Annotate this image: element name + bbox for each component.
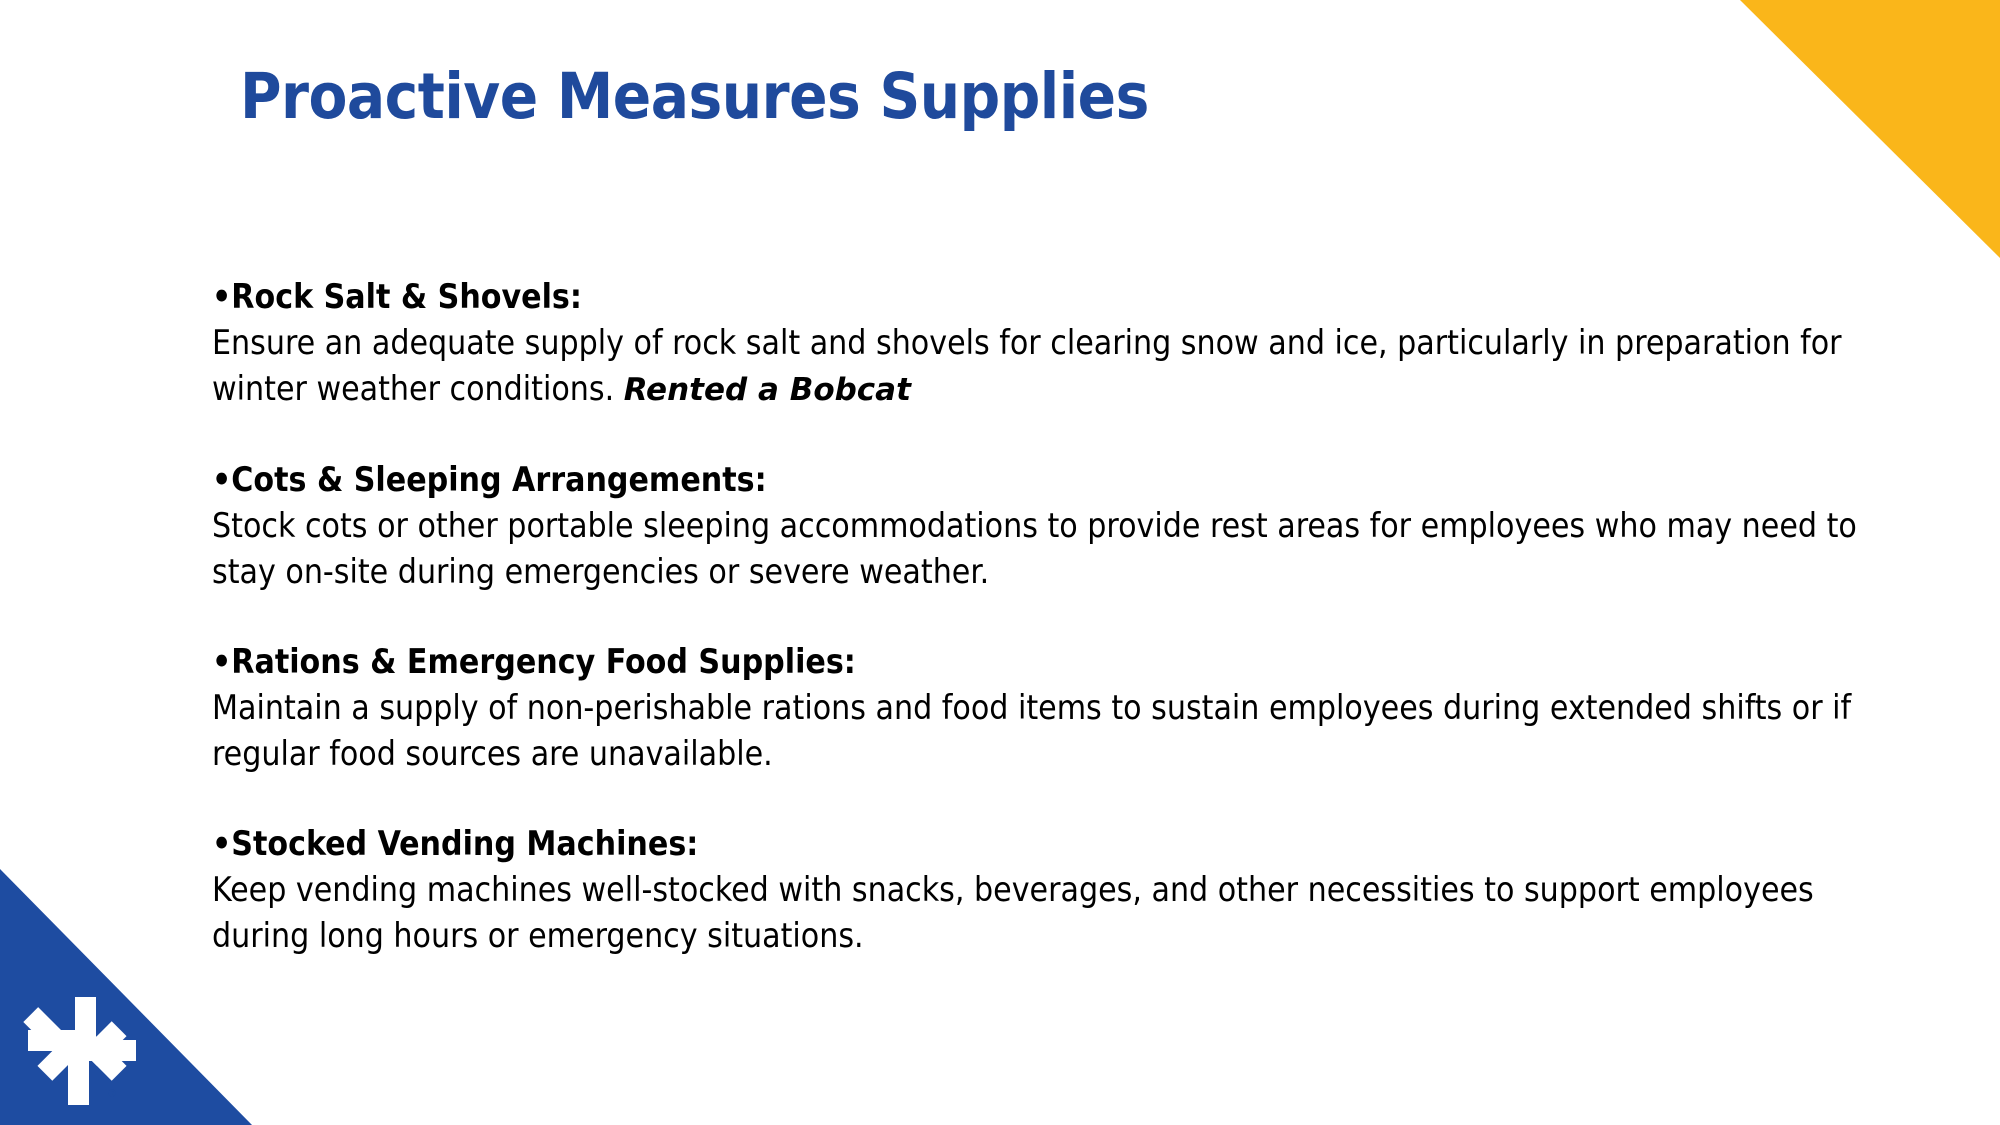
- bullet-heading-text: Cots & Sleeping Arrangements:: [231, 460, 766, 499]
- bullet-group: •Cots & Sleeping Arrangements: Stock cot…: [212, 457, 1872, 595]
- bullet-body-text: Keep vending machines well-stocked with …: [212, 870, 1814, 955]
- yellow-corner-decoration: [1740, 0, 2000, 258]
- bullet-marker-icon: •: [212, 824, 231, 863]
- page-title: Proactive Measures Supplies: [240, 62, 1149, 131]
- slide-canvas: ® Proactive Measures Supplies •Rock Salt…: [0, 0, 2000, 1125]
- bullet-heading: •Stocked Vending Machines:: [212, 821, 1872, 867]
- octagon-pinwheel-logo: ®: [22, 993, 142, 1113]
- registered-mark: ®: [108, 1088, 116, 1100]
- bullet-heading-text: Rations & Emergency Food Supplies:: [231, 642, 856, 681]
- bullet-body: Maintain a supply of non-perishable rati…: [212, 685, 1872, 777]
- bullet-marker-icon: •: [212, 642, 231, 681]
- bullet-body-text: Ensure an adequate supply of rock salt a…: [212, 323, 1842, 408]
- bullet-body: Stock cots or other portable sleeping ac…: [212, 503, 1872, 595]
- bullet-group: •Stocked Vending Machines: Keep vending …: [212, 821, 1872, 959]
- bullet-body-text: Stock cots or other portable sleeping ac…: [212, 506, 1857, 591]
- bullet-body: Keep vending machines well-stocked with …: [212, 867, 1872, 959]
- bullet-emphasis-text: Rented a Bobcat: [624, 372, 911, 408]
- bullet-body: Ensure an adequate supply of rock salt a…: [212, 320, 1872, 413]
- bullet-heading: •Rations & Emergency Food Supplies:: [212, 639, 1872, 685]
- bullet-body-text: Maintain a supply of non-perishable rati…: [212, 688, 1851, 773]
- bullet-heading-text: Rock Salt & Shovels:: [231, 277, 582, 316]
- bullet-heading: •Cots & Sleeping Arrangements:: [212, 457, 1872, 503]
- bullet-marker-icon: •: [212, 460, 231, 499]
- bullet-marker-icon: •: [212, 277, 231, 316]
- bullet-group: •Rock Salt & Shovels: Ensure an adequate…: [212, 274, 1872, 413]
- bullet-content: •Rock Salt & Shovels: Ensure an adequate…: [212, 274, 1872, 959]
- bullet-heading: •Rock Salt & Shovels:: [212, 274, 1872, 320]
- bullet-heading-text: Stocked Vending Machines:: [231, 824, 698, 863]
- bullet-group: •Rations & Emergency Food Supplies: Main…: [212, 639, 1872, 777]
